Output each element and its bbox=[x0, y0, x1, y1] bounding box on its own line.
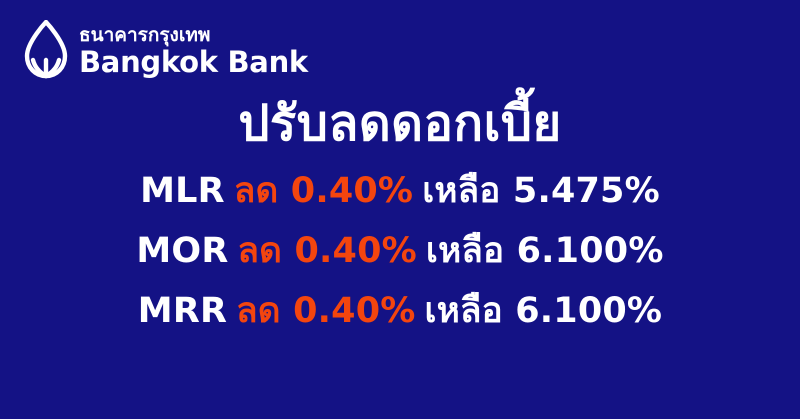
page-title: ปรับลดดอกเบี้ย bbox=[0, 98, 800, 150]
rate-list: MLR ลด 0.40% เหลือ 5.475% MOR ลด 0.40% เ… bbox=[0, 172, 800, 332]
rate-code-mor: MOR bbox=[136, 232, 228, 271]
bangkok-bank-logo: ธนาคารกรุงเทพ Bangkok Bank bbox=[22, 20, 308, 80]
rate-row-mlr: MLR ลด 0.40% เหลือ 5.475% bbox=[0, 172, 800, 211]
rate-row-mrr: MRR ลด 0.40% เหลือ 6.100% bbox=[0, 292, 800, 331]
rate-remaining-mrr: เหลือ 6.100% bbox=[425, 292, 663, 331]
logo-wordmark-group: ธนาคารกรุงเทพ Bangkok Bank bbox=[79, 24, 308, 77]
rate-row-mor: MOR ลด 0.40% เหลือ 6.100% bbox=[0, 232, 800, 271]
logo-thai-name: ธนาคารกรุงเทพ bbox=[79, 26, 308, 45]
bodhi-leaf-icon bbox=[22, 20, 70, 80]
rate-cut-mor: ลด 0.40% bbox=[238, 232, 417, 271]
rate-cut-mlr: ลด 0.40% bbox=[234, 172, 413, 211]
rate-remaining-mlr: เหลือ 5.475% bbox=[422, 172, 660, 211]
rate-code-mlr: MLR bbox=[140, 172, 225, 211]
logo-english-name: Bangkok Bank bbox=[79, 48, 308, 77]
promo-poster: ธนาคารกรุงเทพ Bangkok Bank ปรับลดดอกเบี้… bbox=[0, 0, 800, 419]
rate-cut-mrr: ลด 0.40% bbox=[236, 292, 415, 331]
rate-code-mrr: MRR bbox=[138, 292, 227, 331]
rate-remaining-mor: เหลือ 6.100% bbox=[426, 232, 664, 271]
